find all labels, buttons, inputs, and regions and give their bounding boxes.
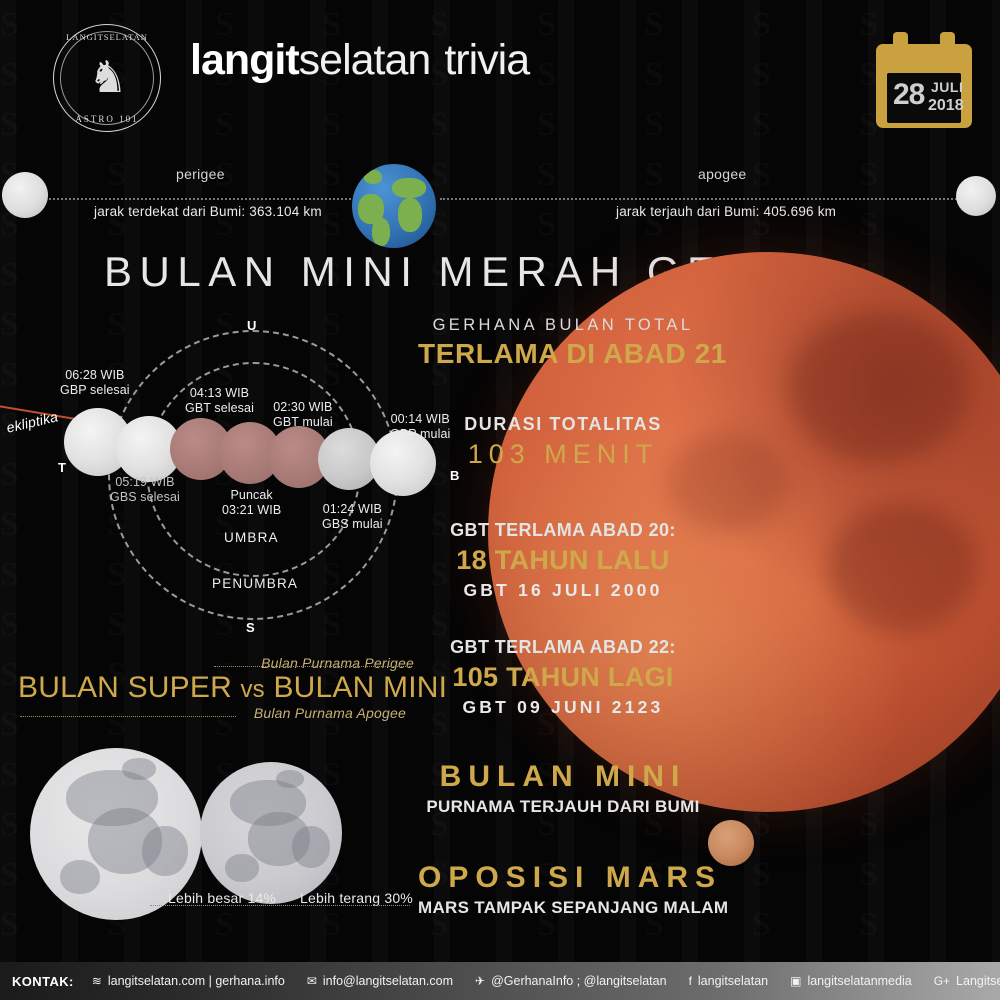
century22-detail: GBT 09 JUNI 2123 bbox=[418, 697, 708, 718]
apogee-moon-icon bbox=[956, 176, 996, 216]
legend-dashline bbox=[150, 905, 410, 906]
comparison-title-vs: vs bbox=[240, 676, 264, 703]
eclipse-diagram: 06:28 WIB GBP selesai 05:19 WIB GBS sele… bbox=[0, 300, 470, 650]
label-gbp-selesai: 06:28 WIB GBP selesai bbox=[60, 368, 130, 398]
footer-googleplus-text: LangitselatanMedia bbox=[956, 974, 1000, 988]
eclipse-value: TERLAMA DI ABAD 21 bbox=[418, 338, 708, 370]
orbit-line-left bbox=[42, 198, 362, 200]
header: ♞ LANGITSELATAN ASTRO 101 langitselatant… bbox=[0, 0, 1000, 150]
comparison-top-dashline bbox=[214, 666, 412, 667]
twitter-icon: ✈ bbox=[475, 974, 485, 988]
footer-item-website[interactable]: ≋ langitselatan.com | gerhana.info bbox=[92, 974, 307, 988]
axis-west: T bbox=[58, 460, 66, 475]
footer-twitter-text: @GerhanaInfo ; @langitselatan bbox=[491, 974, 666, 988]
duration-value: 103 MENIT bbox=[418, 439, 708, 470]
time-gbs-selesai: 05:19 WIB bbox=[115, 475, 174, 489]
brand-title: langitselatantrivia bbox=[190, 36, 529, 85]
horse-rider-icon: ♞ bbox=[80, 50, 136, 106]
legend-brightness: Lebih terang 30% bbox=[300, 890, 413, 906]
minimoon-subtitle: PURNAMA TERJAUH DARI BUMI bbox=[418, 797, 708, 817]
calendar-year: 2018 bbox=[928, 97, 964, 115]
apogee-detail: jarak terjauh dari Bumi: 405.696 km bbox=[616, 204, 836, 219]
facebook-icon: f bbox=[689, 974, 692, 988]
event-gbs-mulai: GBS mulai bbox=[322, 517, 383, 531]
perigee-label: perigee bbox=[176, 166, 225, 182]
footer-item-email[interactable]: ✉ info@langitselatan.com bbox=[307, 974, 475, 988]
calendar-month: JULI bbox=[931, 79, 963, 95]
footer-label: KONTAK: bbox=[0, 974, 92, 989]
time-gbt-mulai: 02:30 WIB bbox=[273, 400, 332, 414]
footer-website-text: langitselatan.com | gerhana.info bbox=[108, 974, 285, 988]
comparison-bottom-dashline bbox=[20, 716, 236, 717]
earth-icon bbox=[352, 164, 436, 248]
peak-time: 03:21 WIB bbox=[222, 503, 281, 517]
mars-planet-icon bbox=[708, 820, 754, 866]
axis-south: S bbox=[246, 620, 255, 635]
brand-light: selatan bbox=[299, 36, 431, 84]
calendar-body: 28 JULI 2018 bbox=[876, 44, 972, 128]
time-gbp-selesai: 06:28 WIB bbox=[65, 368, 124, 382]
langitselatan-logo: ♞ LANGITSELATAN ASTRO 101 bbox=[35, 20, 175, 135]
infographic-poster: S S S S S S S S S S S S S S S S S S S S … bbox=[0, 0, 1000, 1000]
footer-instagram-text: langitselatanmedia bbox=[807, 974, 911, 988]
comparison-title: BULAN SUPER vs BULAN MINI bbox=[18, 671, 418, 705]
event-gbp-selesai: GBP selesai bbox=[60, 383, 130, 397]
logo-top-text: LANGITSELATAN bbox=[53, 32, 161, 42]
comparison-top-note-row: Bulan Purnama Perigee bbox=[18, 655, 418, 671]
moon-comparison-header: Bulan Purnama Perigee BULAN SUPER vs BUL… bbox=[18, 655, 418, 721]
eclipse-caption: GERHANA BULAN TOTAL bbox=[418, 316, 708, 335]
footer-item-instagram[interactable]: ▣ langitselatanmedia bbox=[790, 974, 934, 988]
apogee-label: apogee bbox=[698, 166, 747, 182]
perigee-moon-icon bbox=[2, 172, 48, 218]
footer-item-facebook[interactable]: f langitselatan bbox=[689, 974, 791, 988]
label-gbt-selesai: 04:13 WIB GBT selesai bbox=[185, 386, 254, 416]
comparison-title-left: BULAN SUPER bbox=[18, 671, 232, 704]
orbit-distance-bar: perigee jarak terdekat dari Bumi: 363.10… bbox=[0, 152, 1000, 257]
instagram-icon: ▣ bbox=[790, 974, 801, 988]
googleplus-icon: G+ bbox=[934, 974, 950, 988]
century20-detail: GBT 16 JULI 2000 bbox=[418, 580, 708, 601]
axis-north: U bbox=[247, 318, 256, 333]
brand-trivia: trivia bbox=[444, 36, 529, 84]
mars-subtitle: MARS TAMPAK SEPANJANG MALAM bbox=[418, 898, 708, 918]
comparison-top-note: Bulan Purnama Perigee bbox=[261, 655, 414, 671]
comparison-bottom-note-row: Bulan Purnama Apogee bbox=[18, 705, 418, 721]
calendar-inner: 28 JULI 2018 bbox=[887, 73, 961, 123]
event-gbs-selesai: GBS selesai bbox=[110, 490, 180, 504]
orbit-line-right bbox=[440, 198, 960, 200]
mars-title: OPOSISI MARS bbox=[418, 861, 708, 895]
calendar-day: 28 bbox=[893, 78, 924, 112]
label-puncak: Puncak 03:21 WIB bbox=[222, 488, 281, 518]
date-badge: 28 JULI 2018 bbox=[876, 32, 972, 128]
brand-bold: langit bbox=[190, 36, 299, 84]
rss-icon: ≋ bbox=[92, 974, 102, 988]
label-gbt-mulai: 02:30 WIB GBT mulai bbox=[273, 400, 333, 430]
contact-footer: KONTAK: ≋ langitselatan.com | gerhana.in… bbox=[0, 962, 1000, 1000]
century20-caption: GBT TERLAMA ABAD 20: bbox=[418, 520, 708, 541]
comparison-title-right: BULAN MINI bbox=[273, 671, 447, 704]
label-gbs-mulai: 01:24 WIB GBS mulai bbox=[322, 502, 383, 532]
event-gbt-selesai: GBT selesai bbox=[185, 401, 254, 415]
penumbra-label: PENUMBRA bbox=[212, 576, 298, 591]
time-gbt-selesai: 04:13 WIB bbox=[190, 386, 249, 400]
footer-item-googleplus[interactable]: G+ LangitselatanMedia bbox=[934, 974, 1000, 988]
perigee-detail: jarak terdekat dari Bumi: 363.104 km bbox=[94, 204, 322, 219]
comparison-bottom-note: Bulan Purnama Apogee bbox=[254, 705, 406, 721]
umbra-label: UMBRA bbox=[224, 530, 279, 545]
legend-size: Lebih besar 14% bbox=[168, 890, 276, 906]
peak-label: Puncak bbox=[230, 488, 272, 502]
duration-caption: DURASI TOTALITAS bbox=[418, 414, 708, 435]
footer-facebook-text: langitselatan bbox=[698, 974, 768, 988]
footer-item-twitter[interactable]: ✈ @GerhanaInfo ; @langitselatan bbox=[475, 974, 689, 988]
event-gbt-mulai: GBT mulai bbox=[273, 415, 333, 429]
time-gbs-mulai: 01:24 WIB bbox=[323, 502, 382, 516]
label-gbs-selesai: 05:19 WIB GBS selesai bbox=[110, 475, 180, 505]
minimoon-title: BULAN MINI bbox=[418, 760, 708, 794]
logo-bottom-text: ASTRO 101 bbox=[53, 114, 161, 124]
stats-column: GERHANA BULAN TOTAL TERLAMA DI ABAD 21 D… bbox=[418, 316, 708, 918]
century22-value: 105 TAHUN LAGI bbox=[418, 662, 708, 693]
mini-moon-illustration bbox=[200, 762, 342, 904]
envelope-icon: ✉ bbox=[307, 974, 317, 988]
century20-value: 18 TAHUN LALU bbox=[418, 545, 708, 576]
footer-email-text: info@langitselatan.com bbox=[323, 974, 453, 988]
century22-caption: GBT TERLAMA ABAD 22: bbox=[418, 637, 708, 658]
